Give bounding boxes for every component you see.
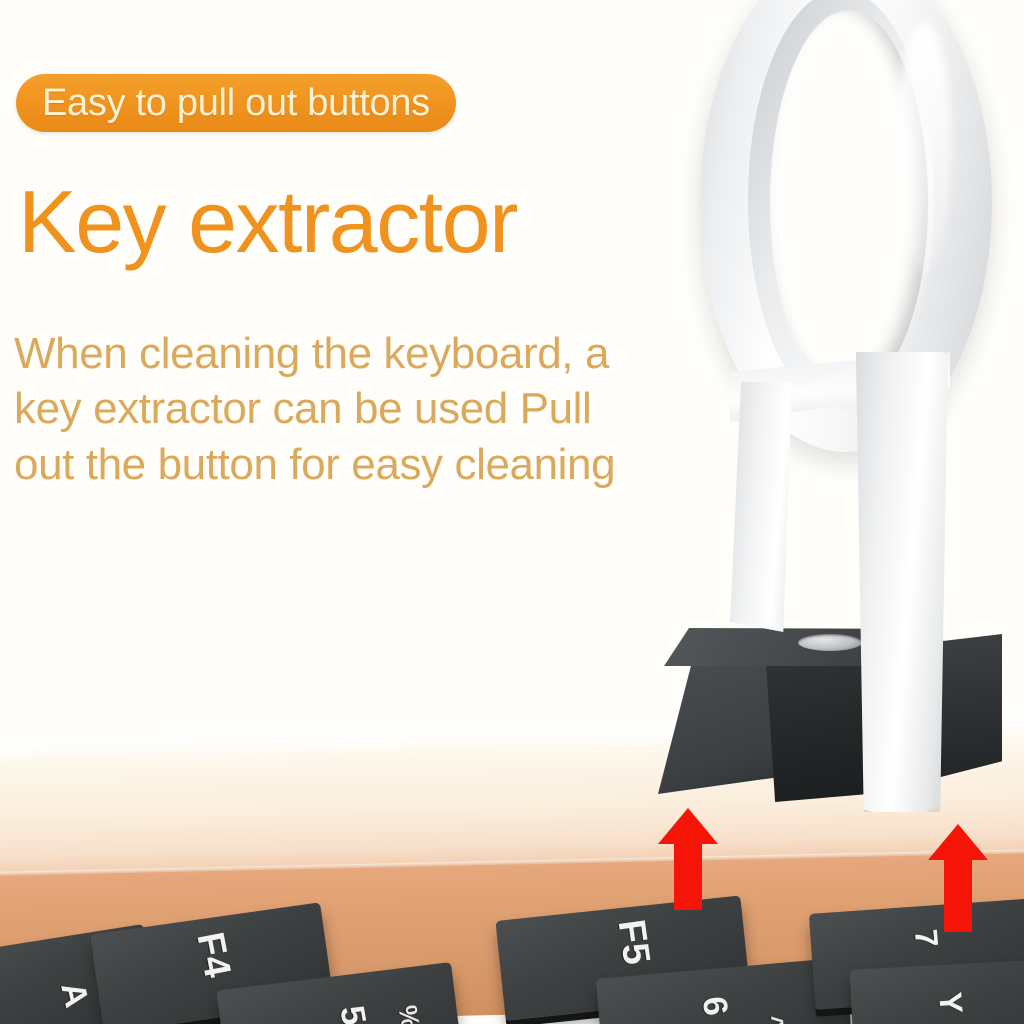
pull-up-arrow-left xyxy=(658,808,718,912)
promo-badge: Easy to pull out buttons xyxy=(16,74,456,132)
keycap-y: Y xyxy=(850,958,1024,1024)
keycap-label: F5 xyxy=(609,917,658,968)
keycap-label: Y xyxy=(931,991,969,1015)
description-line-2: key extractor can be used Pull xyxy=(14,381,734,436)
keycap-label: A xyxy=(52,979,96,1012)
pull-up-arrow-right xyxy=(928,824,988,934)
keycap-sublabel: ^ xyxy=(758,1014,791,1024)
ring-specular-highlight xyxy=(896,22,952,272)
arrow-shaft xyxy=(944,854,972,932)
key-extractor-tool xyxy=(690,0,1000,832)
keycap-label: 6 xyxy=(694,994,735,1018)
extractor-right-leg xyxy=(850,352,948,812)
promo-description: When cleaning the keyboard, a key extrac… xyxy=(14,326,734,492)
keycap-label: F4 xyxy=(187,929,238,982)
keycap-label: 5 xyxy=(331,1003,373,1024)
product-promo-image: A F4 5 % F5 6 ^ 7 Y xyxy=(0,0,1024,1024)
arrow-shaft xyxy=(674,838,702,910)
promo-badge-label: Easy to pull out buttons xyxy=(42,82,430,125)
page-title: Key extractor xyxy=(18,178,517,266)
description-line-3: out the button for easy cleaning xyxy=(14,437,734,492)
keycap-sublabel: % xyxy=(391,1003,426,1024)
description-line-1: When cleaning the keyboard, a xyxy=(14,326,734,381)
